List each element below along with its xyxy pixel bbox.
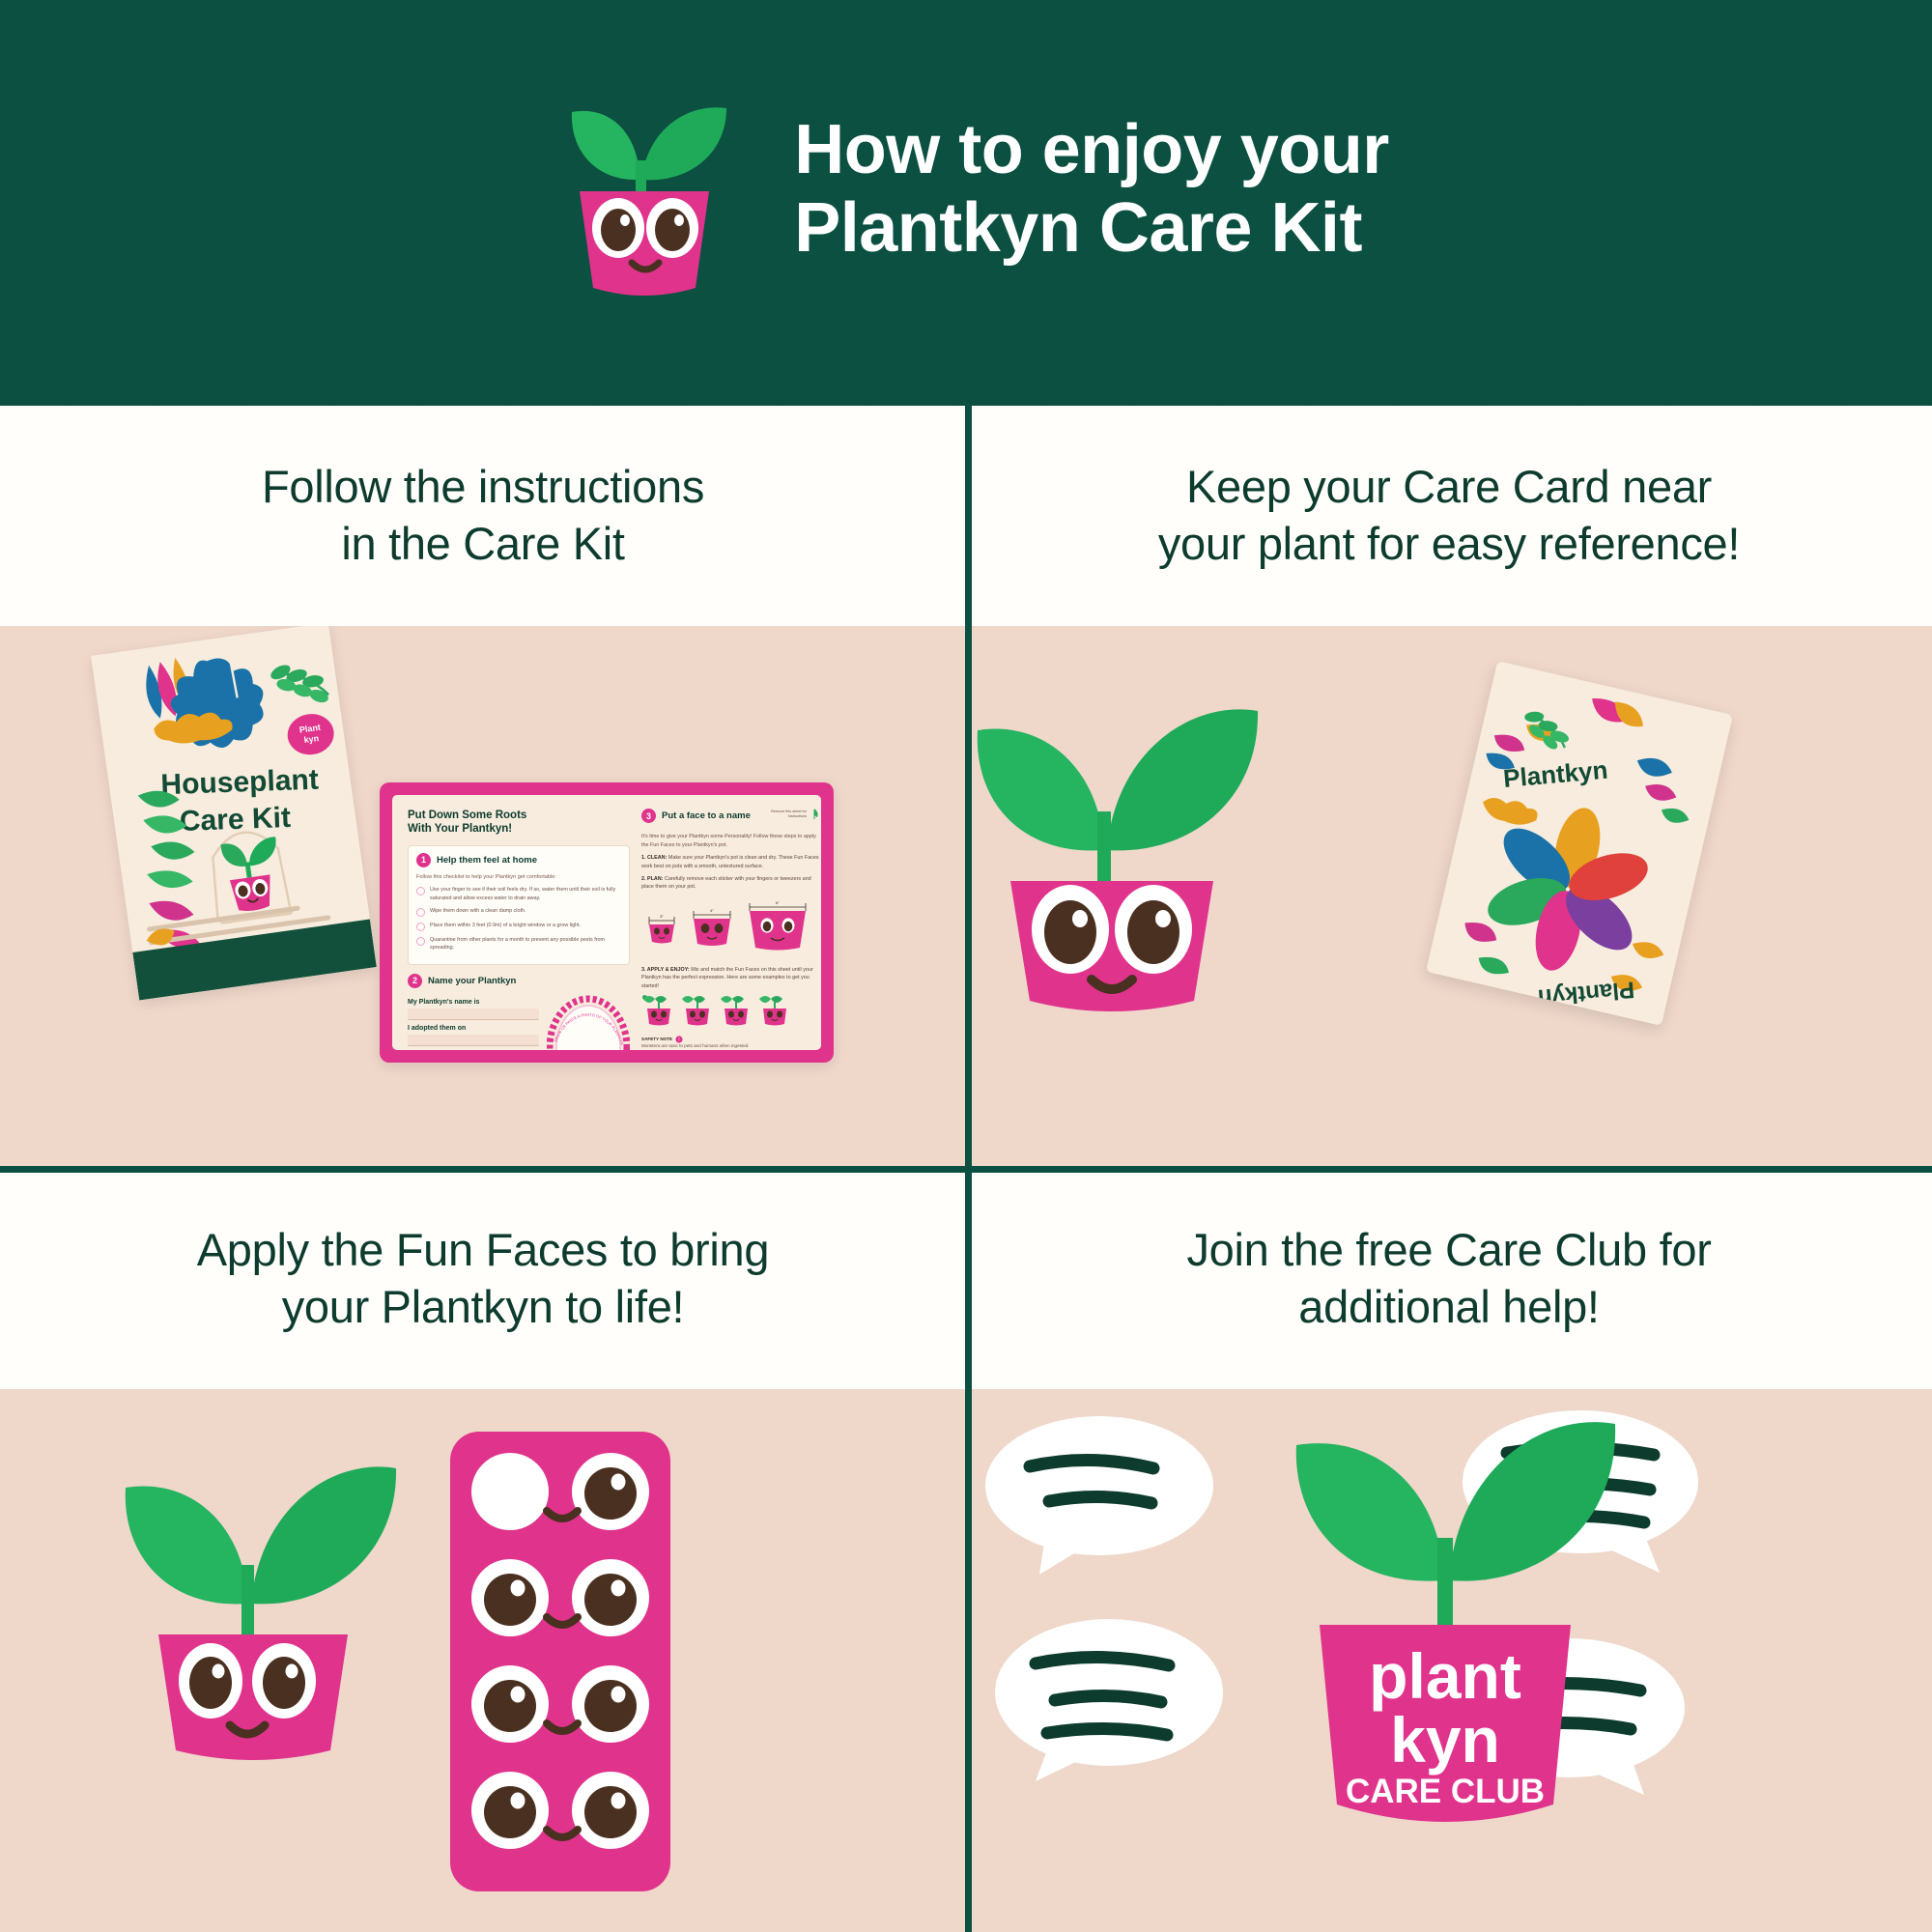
svg-text:!: !	[678, 1037, 679, 1043]
panel-art-follow-instructions: Plant kyn Houseplant Care Kit	[0, 626, 966, 1169]
care-club-pot-logo: plant kyn CARE CLUB	[1229, 1403, 1669, 1905]
panel-heading-follow-instructions: Follow the instructions in the Care Kit	[0, 406, 966, 626]
panel-art-keep-care-card: Plantkyn	[966, 626, 1932, 1169]
step-item: 1. CLEAN: Make sure your Plantkyn's pot …	[641, 854, 819, 870]
heading-line2: your plant for easy reference!	[1158, 516, 1740, 573]
header-title-line1: How to enjoy your	[794, 111, 1389, 189]
heading-line2: your Plantkyn to life!	[197, 1279, 769, 1336]
checklist-item: Place them within 3 feet (0.9m) of a bri…	[416, 922, 621, 931]
field-label: I adopted them on	[408, 1025, 539, 1032]
checklist-panel: 1 Help them feel at home Follow this che…	[408, 845, 630, 965]
panel-heading-join-care-club: Join the free Care Club for additional h…	[966, 1169, 1932, 1389]
safety-label: SAFETY NOTE	[641, 1037, 672, 1041]
section-3-intro: It's time to give your Plantkyn some Per…	[641, 833, 819, 849]
panel-grid: Follow the instructions in the Care Kit	[0, 406, 1932, 1932]
step-badge-2: 2	[408, 974, 422, 988]
card-title: Put Down Some Roots With Your Plantkyn!	[408, 809, 630, 837]
name-field[interactable]	[408, 1009, 539, 1020]
pot-logo-line2: kyn	[1390, 1704, 1500, 1776]
panel-join-care-club: Join the free Care Club for additional h…	[966, 1169, 1932, 1932]
care-kit-booklet: Plant kyn Houseplant Care Kit	[91, 626, 377, 1001]
step-badge-3: 3	[641, 809, 656, 823]
care-card: Plantkyn	[1426, 661, 1733, 1026]
infographic-canvas: How to enjoy your Plantkyn Care Kit Foll…	[0, 0, 1932, 1932]
section-2-header: 2 Name your Plantkyn	[408, 974, 630, 988]
panel-apply-fun-faces: Apply the Fun Faces to bring your Plantk…	[0, 1169, 966, 1932]
pot-size-label: 4"	[710, 908, 714, 913]
pot-size-diagram: 3" 4" 6"	[641, 897, 819, 961]
booklet-art: Plant kyn Houseplant Care Kit	[91, 626, 377, 1001]
pot-logo-line3: CARE CLUB	[1346, 1773, 1545, 1810]
svg-text:Care Kit: Care Kit	[179, 802, 291, 838]
safety-text: Monstera are toxic to pets and humans wh…	[641, 1043, 819, 1050]
section-3-aside: Remove this sheet for instructions	[770, 810, 807, 820]
section-1-note: Follow this checklist to help your Plant…	[416, 873, 621, 881]
plantkyn-mascot-icon	[966, 657, 1312, 1063]
header-title-line2: Plantkyn Care Kit	[794, 189, 1389, 268]
example-faces-row	[641, 995, 819, 1028]
section-1-header: 1 Help them feel at home	[416, 853, 621, 867]
panel-art-apply-fun-faces	[0, 1389, 966, 1932]
panel-follow-instructions: Follow the instructions in the Care Kit	[0, 406, 966, 1169]
section-3-header: 3 Put a face to a name	[641, 809, 751, 823]
photo-frame-icon: DRAW OR PASTE A PHOTO OF YOUR PLANTKYN	[547, 994, 630, 1050]
plantkyn-mascot-icon	[543, 83, 746, 296]
step-item: 3. APPLY & ENJOY: Mix and match the Fun …	[641, 966, 819, 991]
care-instruction-card: Put Down Some Roots With Your Plantkyn! …	[380, 782, 834, 1063]
panel-heading-apply-fun-faces: Apply the Fun Faces to bring your Plantk…	[0, 1169, 966, 1389]
fun-faces-sticker-sheet-icon	[450, 1432, 670, 1891]
checklist-item: Quarantine from other plants for a month…	[416, 936, 621, 952]
header-title: How to enjoy your Plantkyn Care Kit	[794, 111, 1389, 267]
speech-bubble-icon	[983, 1412, 1215, 1578]
panel-keep-care-card: Keep your Care Card near your plant for …	[966, 406, 1932, 1169]
field-label: My Plantkyn's name is	[408, 999, 539, 1006]
checkbox-icon[interactable]	[416, 908, 425, 917]
heading-line1: Follow the instructions	[262, 459, 704, 516]
pot-logo-line1: plant	[1369, 1640, 1521, 1712]
heading-line1: Join the free Care Club for	[1186, 1222, 1711, 1279]
svg-text:kyn: kyn	[303, 733, 320, 745]
care-card-art: Plantkyn	[1426, 661, 1733, 1026]
pot-size-label: 3"	[660, 914, 664, 919]
checkbox-icon[interactable]	[416, 937, 425, 946]
speech-bubble-icon	[993, 1609, 1225, 1783]
checklist-item: Use your finger to see if their soil fee…	[416, 886, 621, 902]
panel-art-join-care-club: plant kyn CARE CLUB	[966, 1389, 1932, 1932]
svg-text:Houseplant: Houseplant	[160, 764, 319, 802]
header-banner: How to enjoy your Plantkyn Care Kit	[0, 0, 1932, 406]
heading-line2: in the Care Kit	[262, 516, 704, 573]
heading-line1: Apply the Fun Faces to bring	[197, 1222, 769, 1279]
checkbox-icon[interactable]	[416, 923, 425, 931]
section-3-title: Put a face to a name	[662, 810, 751, 821]
section-1-title: Help them feel at home	[437, 855, 537, 866]
card-right-column: 3 Put a face to a name Remove this sheet…	[641, 809, 819, 1050]
leaf-pointer-icon	[810, 809, 819, 820]
checkbox-icon[interactable]	[416, 887, 425, 895]
mascot-svg	[543, 83, 746, 296]
heading-line2: additional help!	[1186, 1279, 1711, 1336]
panel-heading-keep-care-card: Keep your Care Card near your plant for …	[966, 406, 1932, 626]
section-2-title: Name your Plantkyn	[428, 976, 516, 986]
warning-icon: !	[675, 1036, 683, 1043]
step-item: 2. PLAN: Carefully remove each sticker w…	[641, 875, 819, 892]
panel-divider-horizontal	[0, 1166, 1932, 1173]
adopted-date-field[interactable]	[408, 1035, 539, 1046]
card-left-column: Put Down Some Roots With Your Plantkyn! …	[408, 809, 630, 1050]
step-badge-1: 1	[416, 853, 431, 867]
heading-line1: Keep your Care Card near	[1158, 459, 1740, 516]
plantkyn-mascot-icon	[58, 1414, 444, 1801]
pot-size-label: 6"	[776, 900, 780, 905]
checklist-item: Wipe them down with a clean damp cloth.	[416, 907, 621, 917]
